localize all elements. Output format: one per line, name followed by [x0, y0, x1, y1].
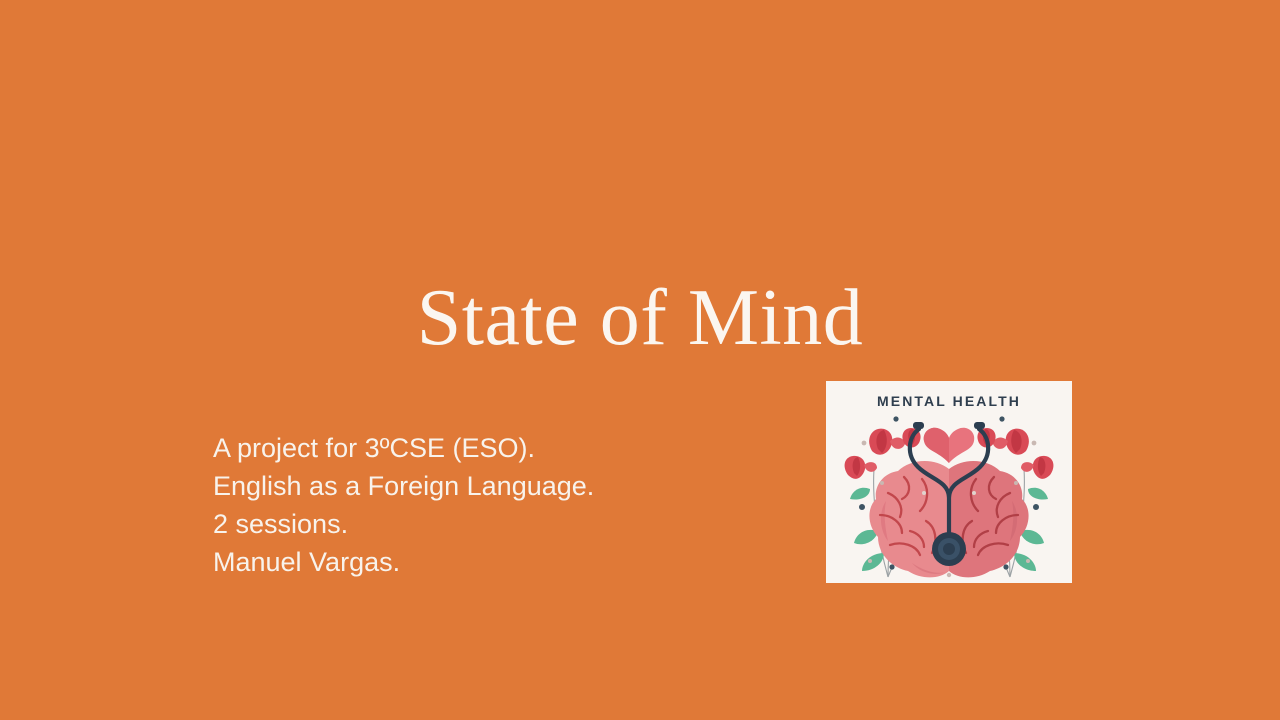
presentation-slide: State of Mind A project for 3ºCSE (ESO).…	[0, 0, 1280, 720]
mental-health-illustration-icon	[826, 381, 1072, 583]
subtitle-text-block: A project for 3ºCSE (ESO). English as a …	[213, 429, 773, 581]
subtitle-line-sessions: 2 sessions.	[213, 505, 773, 543]
stethoscope-chestpiece-icon	[932, 532, 966, 566]
mental-health-image: MENTAL HEALTH	[826, 381, 1072, 583]
page-title: State of Mind	[0, 270, 1280, 366]
subtitle-line-subject: English as a Foreign Language.	[213, 467, 773, 505]
picture-caption: MENTAL HEALTH	[826, 393, 1072, 409]
subtitle-line-project: A project for 3ºCSE (ESO).	[213, 429, 773, 467]
subtitle-line-author: Manuel Vargas.	[213, 543, 773, 581]
